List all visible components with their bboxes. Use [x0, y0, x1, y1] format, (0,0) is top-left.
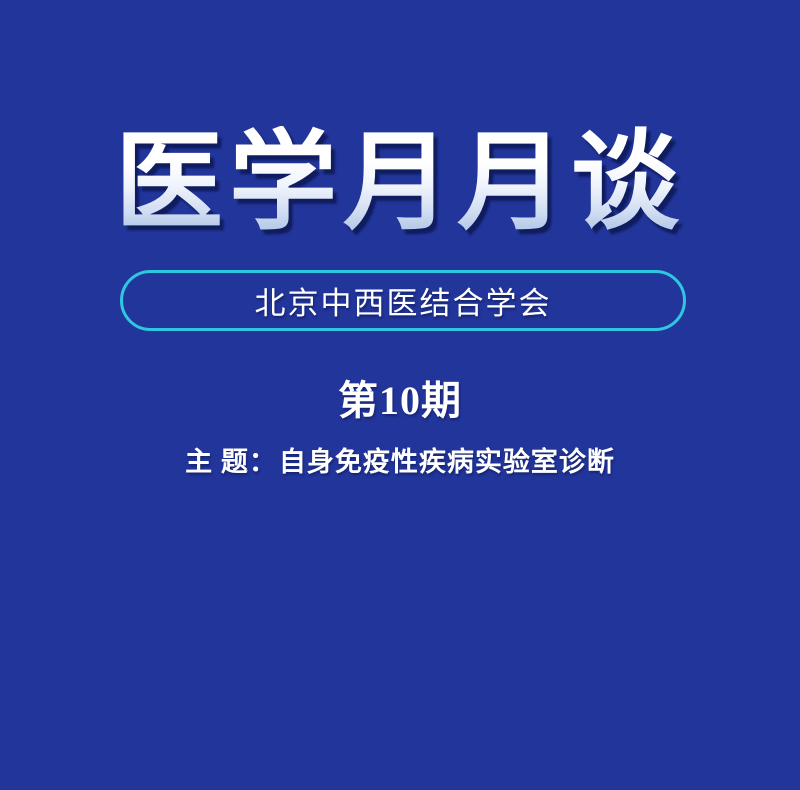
title-block: 医学月月谈 [0, 126, 800, 243]
organization-name: 北京中西医结合学会 [255, 278, 552, 323]
topic-line: 主 题：自身免疫性疾病实验室诊断 [0, 440, 800, 479]
topic-value: 自身免疫性疾病实验室诊断 [279, 447, 615, 477]
poster-canvas: 医学月月谈 北京中西医结合学会 第10期 主 题：自身免疫性疾病实验室诊断 [0, 0, 800, 790]
organization-badge: 北京中西医结合学会 [120, 270, 686, 331]
topic-label: 主 题： [185, 447, 277, 477]
page-title: 医学月月谈 [115, 126, 685, 243]
issue-number: 第10期 [0, 368, 800, 426]
